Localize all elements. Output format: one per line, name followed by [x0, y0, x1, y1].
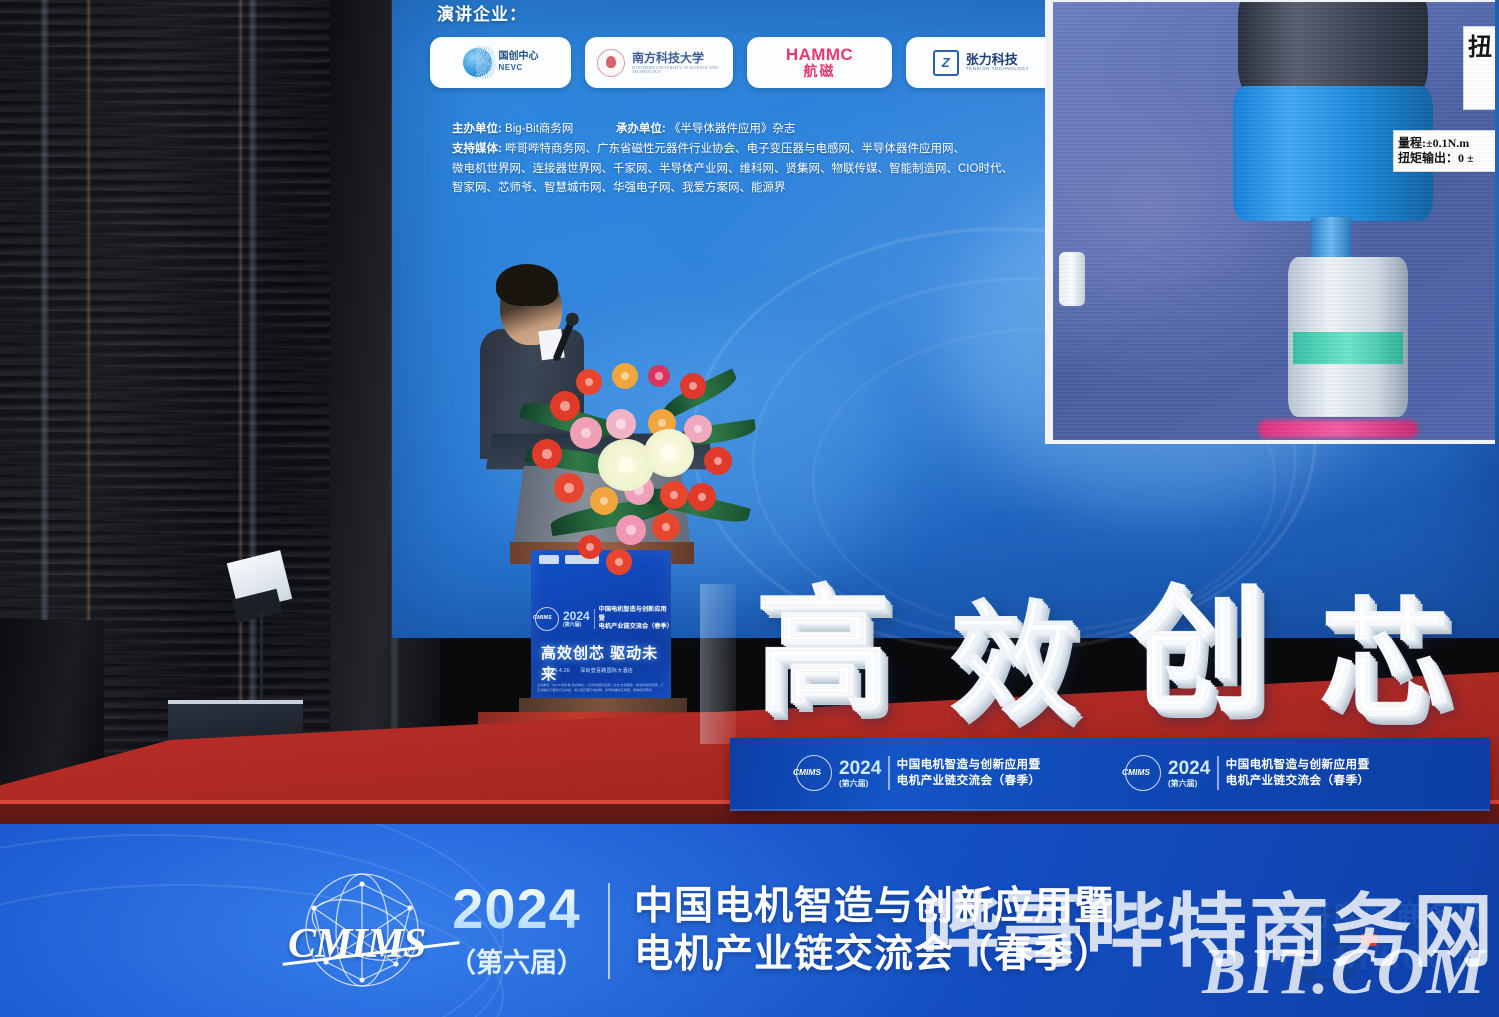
flower	[554, 473, 584, 503]
host-value: Big-Bit商务网	[505, 123, 573, 135]
plinth-title: 中国电机智造与创新应用暨 电机产业链交流会（春季）	[1226, 757, 1370, 790]
flower	[680, 373, 706, 399]
inset-video-panel: 扭 量程:±0.1N.m 扭矩输出：0 ±	[1045, 0, 1495, 444]
conference-stage-photo: 演讲企业： 国创中心 NEVC 南方科技大学 SOUTHERN UNIVERSI…	[0, 0, 1499, 1017]
podium-sign-header: 2024 (第六届) 中国电机智造与创新应用暨 电机产业链交流会（春季）	[535, 606, 671, 632]
plinth-title: 中国电机智造与创新应用暨 电机产业链交流会（春季）	[897, 757, 1041, 790]
lily-flower	[644, 429, 694, 477]
edition-text: (第六届)	[1168, 780, 1210, 788]
meta-date: 2024.4.26	[545, 668, 570, 674]
meta-venue: 深圳登喜路国际大酒店	[580, 668, 633, 674]
title-line-2: 电机产业链交流会（春季）	[1226, 773, 1370, 789]
flower-arrangement	[520, 355, 735, 570]
flower	[576, 369, 602, 395]
letter-4: 芯	[1320, 596, 1450, 726]
flower	[550, 391, 580, 421]
podium-sign-year: 2024 (第六届)	[563, 610, 590, 628]
banner-edition: （第六届）	[449, 941, 584, 980]
screen-scanlines	[1053, 2, 1495, 440]
sponsor-name-en: TENSION TECHNOLOGY	[966, 67, 1029, 72]
sponsor-logo-hammc: HAMMC 航磁	[747, 37, 892, 88]
cmims-globe-icon	[1125, 755, 1161, 791]
divider	[1217, 756, 1218, 790]
organizer-info-block: 主办单位: Big-Bit商务网 承办单位: 《半导体器件应用》杂志 支持媒体:…	[452, 120, 1013, 199]
letter-2: 效	[950, 600, 1076, 726]
media-line: 支持媒体: 哔哥哔特商务网、广东省磁性元器件行业协会、电子变压器与电感网、半导体…	[452, 140, 1013, 160]
podium-slogan: 高效创芯 驱动未来	[541, 642, 671, 684]
cmims-globe-icon	[796, 755, 832, 791]
title-line-2: 电机产业链交流会（春季）	[897, 773, 1041, 789]
acrylic-panel	[700, 584, 736, 744]
sponsor-logo-nevc-text: 国创中心 NEVC	[499, 52, 539, 74]
flower	[570, 417, 602, 449]
stage-3d-letters: 高 效 创 芯	[735, 578, 1495, 738]
year-text: 2024	[839, 758, 881, 779]
nevc-globe-icon	[463, 48, 492, 77]
watermark: B 哔哥哔特商务网 IG-BIT.COM 哔哥哔特商务网 BIT.COM	[1135, 888, 1495, 1008]
banner-year: 2024	[449, 881, 584, 937]
title-line-1: 中国电机智造与创新应用暨	[897, 757, 1041, 773]
letter-3: 创	[1130, 584, 1266, 720]
cmims-globe-icon: CMIMS	[300, 868, 425, 993]
sponsor-logo-tension-text: 张力科技 TENSION TECHNOLOGY	[966, 53, 1029, 71]
organizer-line: 主办单位: Big-Bit商务网 承办单位: 《半导体器件应用》杂志	[452, 120, 1013, 140]
title-line-1: 中国电机智造与创新应用暨	[599, 606, 671, 623]
sponsor-name-en: SOUTHERN UNIVERSITY OF SCIENCE AND TECHN…	[632, 66, 721, 74]
letters-plinth: 2024 (第六届) 中国电机智造与创新应用暨 电机产业链交流会（春季） 202…	[730, 738, 1490, 811]
plinth-year-block: 2024 (第六届)	[839, 759, 881, 788]
tension-z-icon: Z	[933, 50, 959, 76]
sponsor-logo-row: 国创中心 NEVC 南方科技大学 SOUTHERN UNIVERSITY OF …	[430, 37, 1056, 88]
media-list-line-1: 哔哥哔特商务网、广东省磁性元器件行业协会、电子变压器与电感网、半导体器件应用网、	[505, 143, 965, 155]
flower	[578, 535, 602, 559]
undertaker-label: 承办单位:	[616, 123, 666, 135]
plinth-brand-right: 2024 (第六届) 中国电机智造与创新应用暨 电机产业链交流会（春季）	[1125, 755, 1370, 791]
hammc-wordmark-icon: HAMMC 航磁	[786, 46, 853, 79]
media-label: 支持媒体:	[452, 143, 502, 155]
podium-meta: 2024.4.26 深圳登喜路国际大酒店	[545, 667, 633, 674]
podium-fine-print: 主办单位：Big-Bit商务网 承办单位：《半导体器件应用》杂志 支持媒体：哔哥…	[537, 683, 665, 693]
flower	[590, 487, 618, 515]
sustech-torch-icon	[597, 49, 625, 77]
flower	[606, 549, 632, 575]
light-pole	[260, 612, 263, 706]
watermark-overlay-en: BIT.COM	[1202, 934, 1487, 1010]
media-list-line-3: 智家网、芯师爷、智慧城市网、华强电子网、我爱方案网、能源界	[452, 179, 1013, 199]
media-list-line-2: 微电机世界网、连接器世界网、千家网、半导体产业网、维科网、贤集网、物联传媒、智能…	[452, 160, 1013, 180]
title-line-1: 中国电机智造与创新应用暨	[1226, 757, 1370, 773]
flower	[704, 447, 732, 475]
flower	[616, 515, 646, 545]
sponsor-name-cn: 南方科技大学	[632, 51, 704, 65]
stage-light	[232, 556, 292, 706]
sponsor-name-cn: 国创中心	[499, 52, 539, 63]
title-line-2: 电机产业链交流会（春季）	[599, 623, 671, 632]
undertaker-value: 《半导体器件应用》杂志	[669, 123, 796, 135]
flower	[532, 439, 562, 469]
divider	[594, 609, 595, 629]
letter-1: 高	[755, 584, 891, 720]
sponsor-name-cn: 航磁	[786, 64, 853, 79]
host-label: 主办单位:	[452, 123, 502, 135]
edition-text: (第六届)	[839, 780, 881, 788]
speaking-enterprises-label: 演讲企业：	[437, 0, 527, 25]
sponsor-logo-sustech: 南方科技大学 SOUTHERN UNIVERSITY OF SCIENCE AN…	[585, 37, 733, 88]
divider	[608, 883, 610, 979]
edition-text: (第六届)	[563, 623, 590, 628]
sponsor-logo-nevc: 国创中心 NEVC	[430, 37, 571, 88]
flower	[648, 365, 670, 387]
podium-sign-panel: 2024 (第六届) 中国电机智造与创新应用暨 电机产业链交流会（春季） 高效创…	[531, 550, 671, 702]
divider	[888, 756, 889, 790]
plinth-brand-left: 2024 (第六届) 中国电机智造与创新应用暨 电机产业链交流会（春季）	[796, 755, 1041, 791]
podium-sign-title: 中国电机智造与创新应用暨 电机产业链交流会（春季）	[599, 606, 671, 632]
year-text: 2024	[1168, 758, 1210, 779]
flower	[660, 481, 688, 509]
speaker-hair	[496, 264, 558, 306]
banner-year-block: 2024 （第六届）	[449, 881, 584, 980]
plinth-year-block: 2024 (第六届)	[1168, 759, 1210, 788]
sponsor-logo-sustech-text: 南方科技大学 SOUTHERN UNIVERSITY OF SCIENCE AN…	[632, 52, 721, 74]
flower	[652, 513, 680, 541]
cmims-globe-icon	[535, 607, 559, 631]
sponsor-name-en: HAMMC	[786, 46, 853, 64]
sponsor-logo-tension: Z 张力科技 TENSION TECHNOLOGY	[906, 37, 1056, 88]
flower	[688, 483, 716, 511]
inset-video-image: 扭 量程:±0.1N.m 扭矩输出：0 ±	[1053, 2, 1495, 440]
sponsor-name-en: NEVC	[499, 63, 523, 72]
year-text: 2024	[563, 609, 590, 623]
flower	[612, 363, 638, 389]
flower	[606, 409, 636, 439]
